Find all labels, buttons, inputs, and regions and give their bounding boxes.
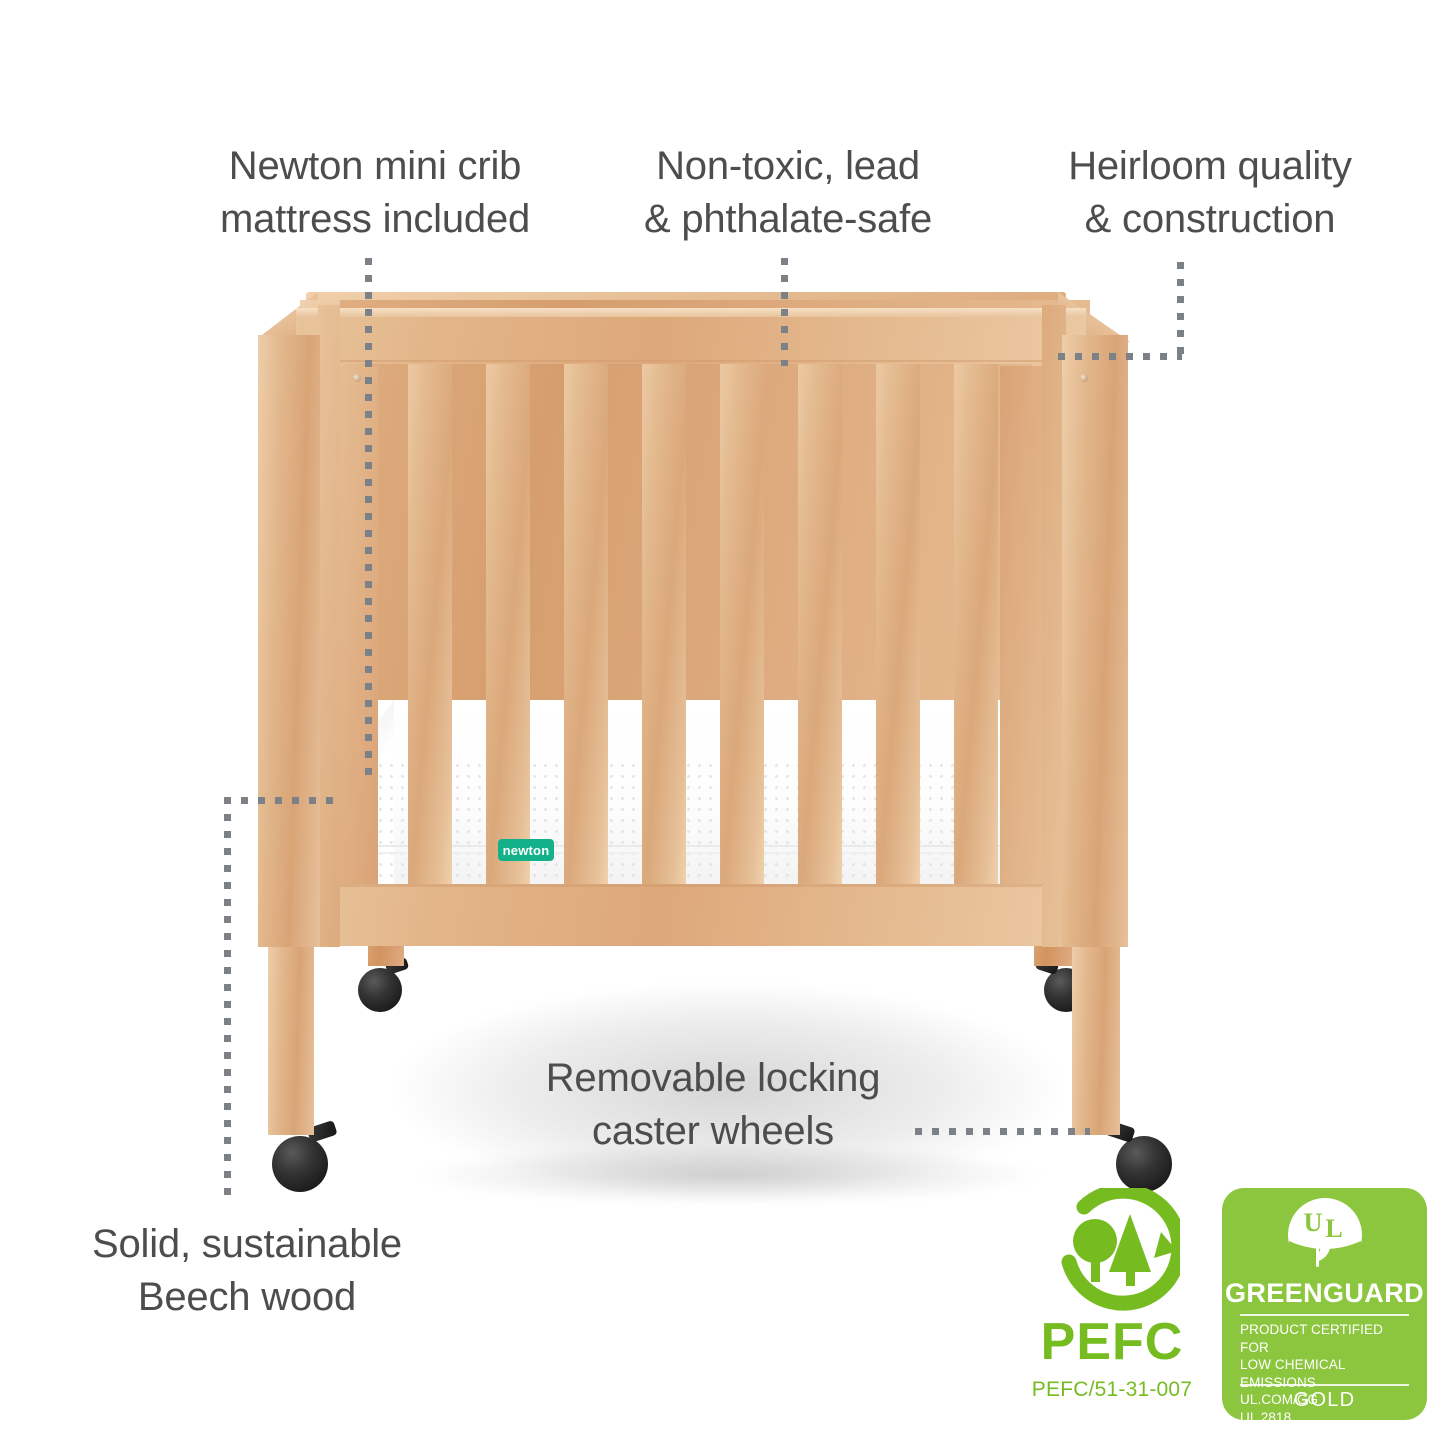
newton-brand-badge: newton [498, 839, 554, 861]
pefc-badge: PEFC PEFC/51-31-007 [1022, 1188, 1202, 1423]
infographic-stage: newton [0, 0, 1445, 1445]
greenguard-badge: U L GREENGUARD PRODUCT CERTIFIED FOR LOW… [1222, 1188, 1427, 1420]
leader-line-beech-horizontal [224, 797, 334, 804]
crib-front-top-rail-highlight [296, 308, 1086, 317]
crib-leg-front-left [268, 940, 314, 1135]
crib-front-bottom-rail [296, 884, 1086, 946]
caster-wheel-rear-left [352, 958, 412, 1018]
greenguard-wordmark: GREENGUARD [1222, 1278, 1427, 1309]
greenguard-level: GOLD [1222, 1389, 1427, 1412]
pefc-trees-circle-icon [1050, 1188, 1180, 1318]
callout-beech-wood: Solid, sustainable Beech wood [22, 1218, 472, 1324]
callout-heirloom-quality: Heirloom quality & construction [1005, 140, 1415, 246]
pefc-certificate-code: PEFC/51-31-007 [1022, 1378, 1202, 1402]
callout-mattress-included: Newton mini crib mattress included [140, 140, 610, 246]
leader-line-mattress [365, 258, 372, 778]
greenguard-divider-bottom [1240, 1384, 1409, 1386]
certification-badges: PEFC PEFC/51-31-007 U L GREENGUARD [1022, 1188, 1430, 1423]
crib-left-screw [353, 374, 361, 382]
crib-right-screw [1080, 374, 1088, 382]
crib-leg-front-right [1072, 940, 1120, 1135]
leader-line-heirloom-vertical [1177, 262, 1184, 358]
crib-left-inner-stile [318, 305, 340, 947]
crib-right-corner-post [1062, 335, 1128, 947]
crib-front-top-rail-shadow [296, 360, 1086, 362]
callout-caster-wheels: Removable locking caster wheels [478, 1052, 948, 1158]
crib-left-corner-post [258, 335, 320, 947]
svg-text:L: L [1325, 1214, 1342, 1243]
leader-line-nontoxic [781, 258, 788, 366]
ul-leaf-icon: U L [1287, 1197, 1363, 1273]
pefc-wordmark: PEFC [1022, 1316, 1202, 1368]
leader-line-beech-vertical [224, 797, 231, 1203]
crib-right-panel-filler [1000, 366, 1046, 886]
greenguard-divider-top [1240, 1314, 1409, 1316]
svg-text:U: U [1303, 1208, 1322, 1237]
crib-bottom-rail-top-shadow [296, 884, 1086, 887]
leader-line-heirloom-horizontal [1058, 353, 1182, 360]
crib-front-slat-group [330, 345, 1080, 890]
newton-brand-label: newton [503, 843, 550, 858]
crib-left-panel-filler [338, 366, 378, 886]
callout-non-toxic: Non-toxic, lead & phthalate-safe [578, 140, 998, 246]
